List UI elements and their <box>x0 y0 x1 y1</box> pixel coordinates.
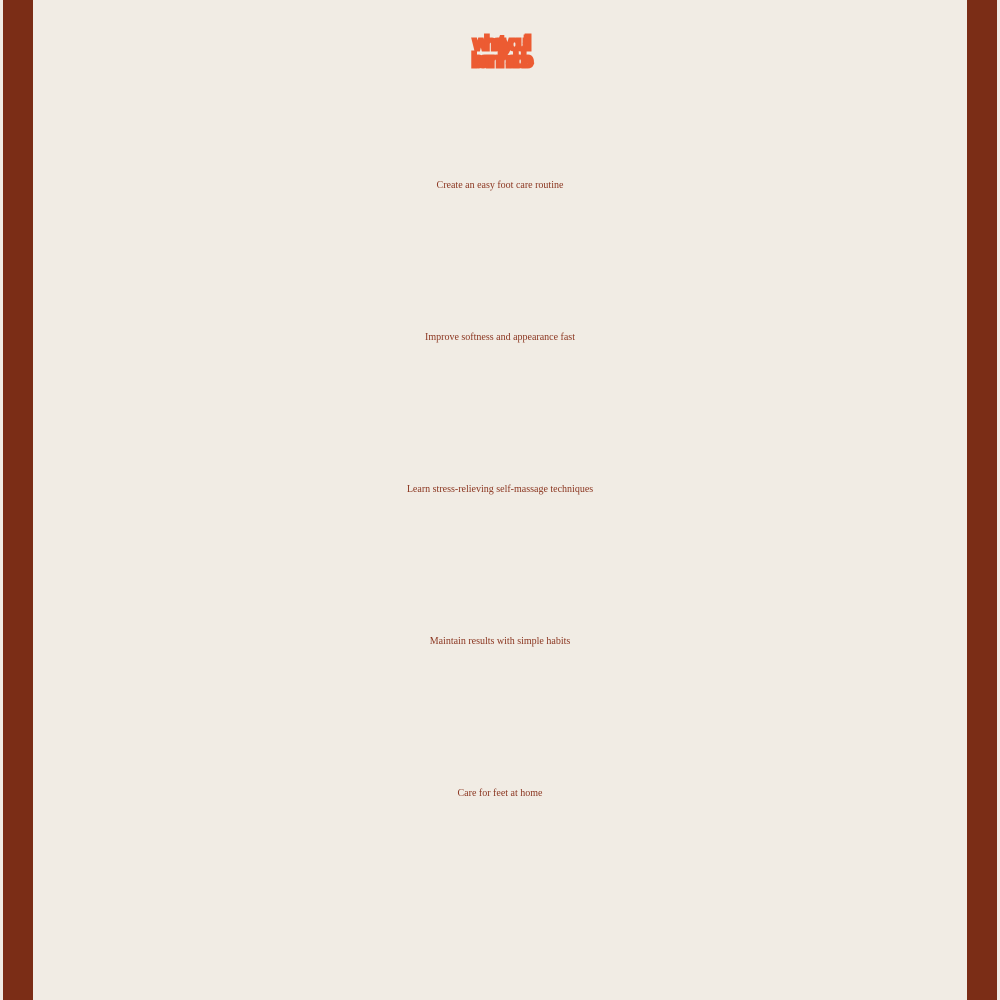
content-column: what you’ll learn inside Create an easy … <box>33 0 967 1000</box>
list-item: Create an easy foot care routine <box>33 110 967 262</box>
benefits-list: Create an easy foot care routine Improve… <box>33 110 967 870</box>
page-title: what you’ll learn inside <box>33 36 967 70</box>
poster-canvas: what you’ll learn inside Create an easy … <box>0 0 1000 1000</box>
left-border-bar <box>3 0 33 1000</box>
list-item: Improve softness and appearance fast <box>33 262 967 414</box>
list-item: Maintain results with simple habits <box>33 566 967 718</box>
right-border-bar <box>967 0 997 1000</box>
headline-line-2: learn inside <box>33 53 967 70</box>
list-item: Learn stress-relieving self-massage tech… <box>33 414 967 566</box>
list-item: Care for feet at home <box>33 718 967 870</box>
